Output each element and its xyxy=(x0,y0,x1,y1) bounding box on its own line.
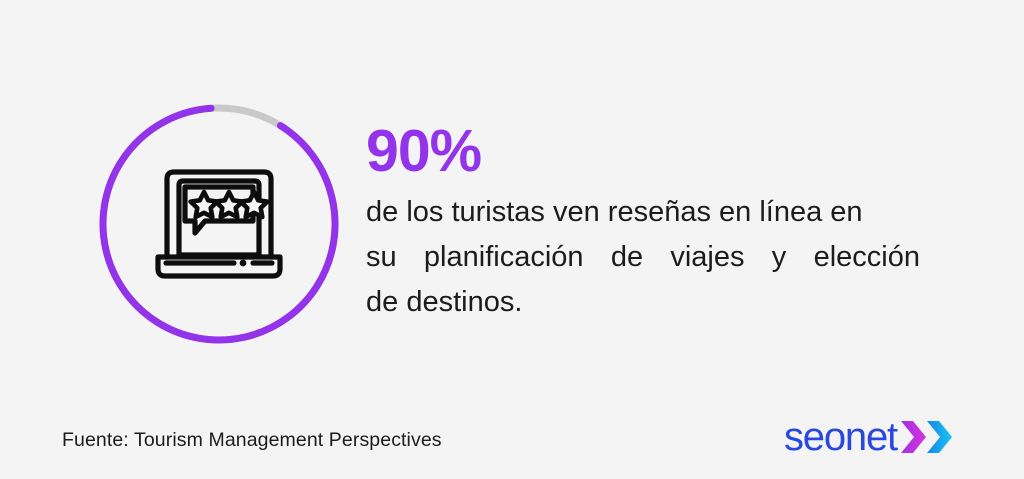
laptop-base xyxy=(158,257,280,276)
stat-line-2-word: viajes xyxy=(670,235,744,280)
stat-percentage: 90% xyxy=(366,120,920,182)
brand-logo: seonet xyxy=(784,414,956,460)
stat-line-1: de los turistas ven reseñas en línea en xyxy=(366,190,920,235)
chevron-2-icon xyxy=(927,421,952,453)
double-chevron-icon xyxy=(900,420,956,454)
stat-line-2-word: de xyxy=(611,235,643,280)
stat-line-2-word: y xyxy=(772,235,787,280)
source-label: Fuente: Tourism Management Perspectives xyxy=(62,429,442,452)
stat-description: de los turistas ven reseñas en línea en … xyxy=(366,190,920,325)
stat-line-2-word: elección xyxy=(814,235,920,280)
stat-line-2-word: su xyxy=(366,235,397,280)
laptop-trackpad-dot xyxy=(240,260,247,267)
stat-line-2-word: planificación xyxy=(424,235,584,280)
laptop-reviews-icon xyxy=(150,159,288,289)
chevron-1-icon xyxy=(901,421,926,453)
laptop-reviews-icon-svg xyxy=(150,159,288,289)
stat-line-2: su planificación de viajes y elección xyxy=(366,235,920,280)
infographic-canvas: 90% de los turistas ven reseñas en línea… xyxy=(0,0,1024,479)
stat-ring-graphic xyxy=(98,103,340,345)
stat-text-block: 90% de los turistas ven reseñas en línea… xyxy=(366,120,920,325)
stat-line-3: de destinos. xyxy=(366,280,920,325)
logo-wordmark: seonet xyxy=(784,417,897,457)
